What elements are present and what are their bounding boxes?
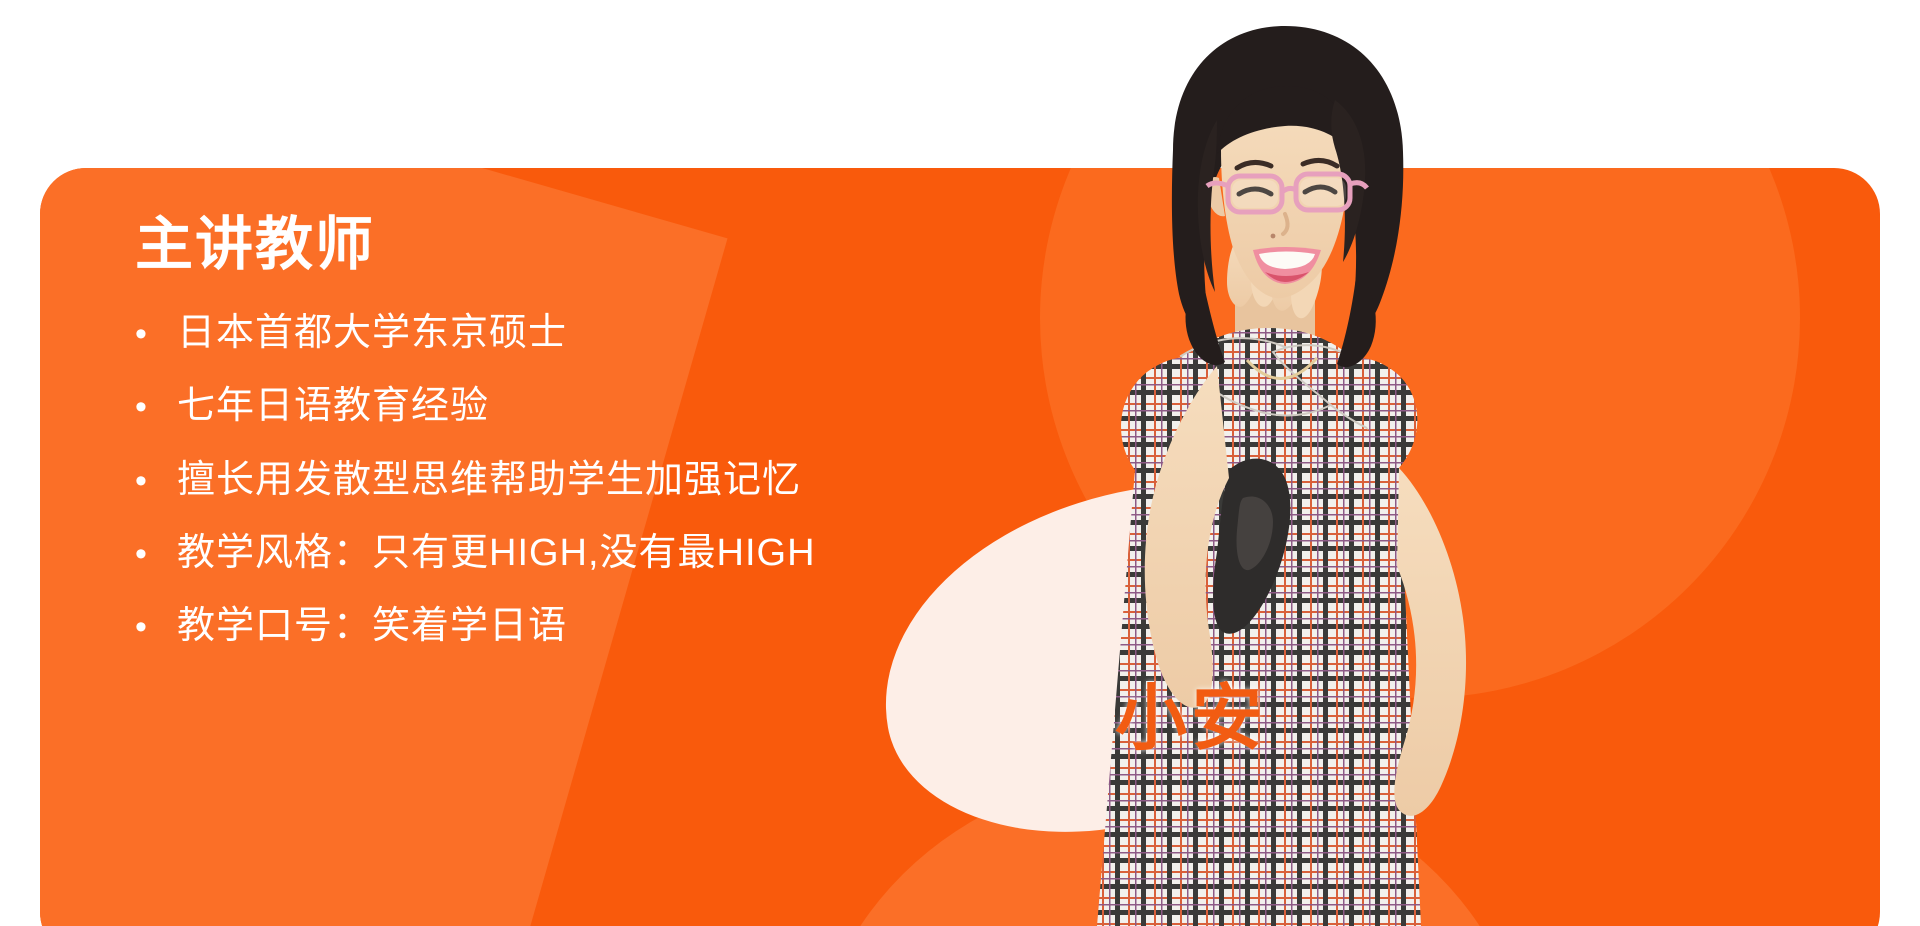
- bullet-dot-icon: •: [135, 317, 177, 351]
- teacher-name-badge: 小安: [1115, 683, 1267, 755]
- list-item: • 七年日语教育经验: [135, 381, 955, 432]
- list-item: • 教学口号：笑着学日语: [135, 601, 955, 652]
- orange-card: 主讲教师 • 日本首都大学东京硕士 • 七年日语教育经验 • 擅长用发散型思维帮…: [40, 168, 1880, 926]
- teacher-info-content: 主讲教师 • 日本首都大学东京硕士 • 七年日语教育经验 • 擅长用发散型思维帮…: [135, 216, 955, 674]
- teacher-qualification-list: • 日本首都大学东京硕士 • 七年日语教育经验 • 擅长用发散型思维帮助学生加强…: [135, 308, 955, 652]
- list-item: • 日本首都大学东京硕士: [135, 308, 955, 359]
- list-item: • 教学风格：只有更HIGH,没有最HIGH: [135, 528, 955, 579]
- list-item-label: 教学口号：笑着学日语: [177, 601, 567, 652]
- list-item-label: 教学风格：只有更HIGH,没有最HIGH: [177, 528, 816, 579]
- teacher-profile-banner: 主讲教师 • 日本首都大学东京硕士 • 七年日语教育经验 • 擅长用发散型思维帮…: [0, 0, 1920, 926]
- bullet-dot-icon: •: [135, 464, 177, 498]
- bullet-dot-icon: •: [135, 537, 177, 571]
- list-item-label: 七年日语教育经验: [177, 381, 489, 432]
- bullet-dot-icon: •: [135, 390, 177, 424]
- bullet-dot-icon: •: [135, 610, 177, 644]
- section-title: 主讲教师: [135, 216, 955, 274]
- list-item: • 擅长用发散型思维帮助学生加强记忆: [135, 455, 955, 506]
- list-item-label: 擅长用发散型思维帮助学生加强记忆: [177, 455, 801, 506]
- list-item-label: 日本首都大学东京硕士: [177, 308, 567, 359]
